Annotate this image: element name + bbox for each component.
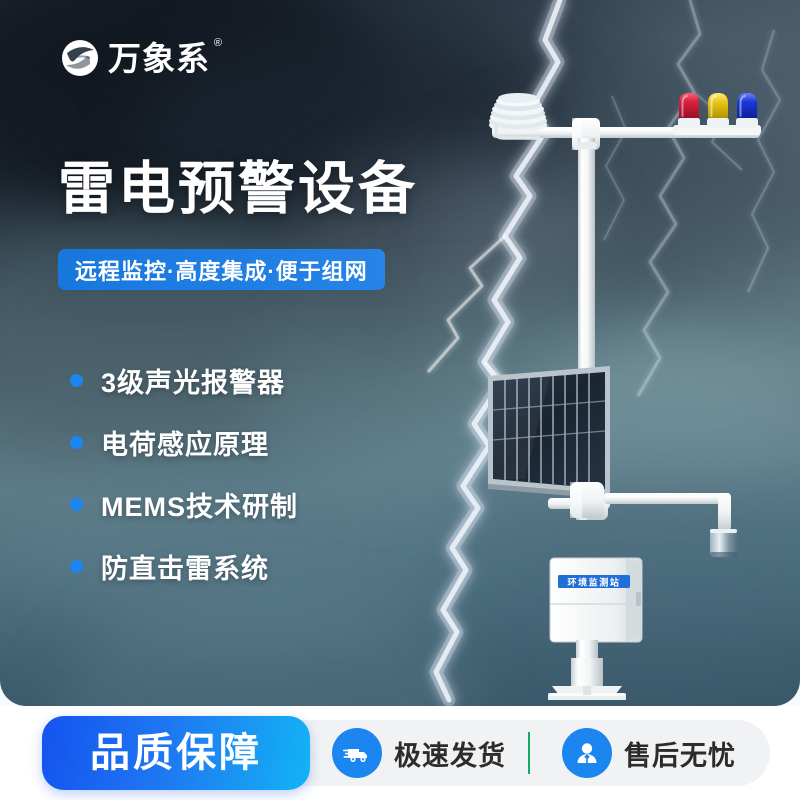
delivery-truck-icon — [332, 728, 382, 778]
blue-alarm-light — [736, 93, 758, 128]
page-title: 雷电预警设备 — [58, 161, 418, 218]
subtitle-badge: 远程监控·高度集成·便于组网 — [58, 249, 385, 290]
trust-items-divider — [528, 732, 530, 774]
brand-name: 万象系 ® — [108, 42, 210, 75]
trust-bar: 品质保障 极速发货 — [0, 706, 800, 800]
feature-item: 防直击雷系统 — [70, 535, 298, 597]
feature-label: 3级声光报警器 — [101, 361, 285, 400]
product-banner-page: 环境监测站 万象系 ® — [0, 0, 800, 800]
lightning-warning-device-illustration: 环境监测站 — [430, 80, 800, 700]
feature-list: 3级声光报警器 电荷感应原理 MEMS技术研制 防直击雷系统 — [70, 349, 298, 597]
bullet-dot-icon — [70, 374, 83, 387]
solar-panel — [488, 366, 610, 499]
pole-base-plate — [548, 686, 626, 700]
oval-swirl-logo-icon — [60, 38, 100, 78]
subtitle-badge-label: 远程监控·高度集成·便于组网 — [75, 254, 368, 286]
bullet-dot-icon — [70, 436, 83, 449]
feature-item: 电荷感应原理 — [70, 411, 298, 473]
feature-item: 3级声光报警器 — [70, 349, 298, 411]
yellow-alarm-light — [707, 93, 729, 128]
feature-item: MEMS技术研制 — [70, 473, 298, 535]
control-box: 环境监测站 — [550, 558, 642, 642]
trust-item-label: 极速发货 — [394, 734, 506, 773]
field-mill-sensor — [710, 529, 737, 557]
red-alarm-light — [678, 93, 700, 128]
brand-logo: 万象系 ® — [60, 38, 210, 78]
feature-label: 防直击雷系统 — [101, 547, 269, 586]
bullet-dot-icon — [70, 560, 83, 573]
quality-guarantee-badge[interactable]: 品质保障 — [42, 716, 310, 790]
brand-name-text: 万象系 — [108, 40, 210, 77]
trust-item-fast-shipping[interactable]: 极速发货 — [332, 728, 506, 778]
registered-trademark-icon: ® — [214, 38, 223, 49]
bullet-dot-icon — [70, 498, 83, 511]
trust-item-after-sales[interactable]: 售后无忧 — [562, 728, 736, 778]
feature-label: 电荷感应原理 — [101, 423, 269, 462]
cloud-blob — [60, 600, 480, 706]
trust-item-label: 售后无忧 — [624, 734, 736, 773]
quality-guarantee-label: 品质保障 — [90, 733, 262, 773]
control-box-label: 环境监测站 — [567, 577, 620, 588]
feature-label: MEMS技术研制 — [101, 485, 298, 524]
customer-service-person-icon — [562, 728, 612, 778]
